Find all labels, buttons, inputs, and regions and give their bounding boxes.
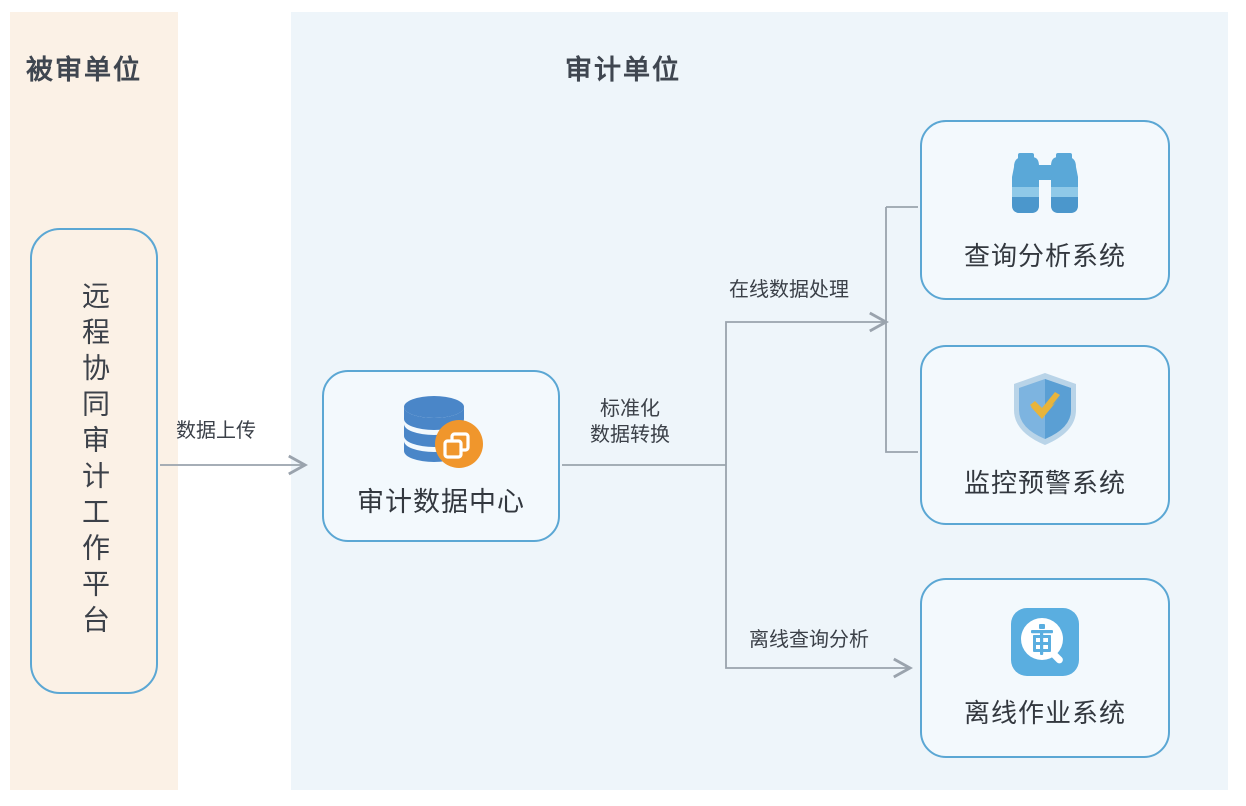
edge-label-standardize-line2: 数据转换 [590, 422, 670, 448]
database-icon [398, 393, 484, 474]
edge-label-standardize: 标准化 数据转换 [590, 396, 670, 448]
node-query-analysis-system[interactable]: 查询分析系统 [920, 120, 1170, 300]
node-audit-data-center-label: 审计数据中心 [357, 480, 525, 519]
node-monitor-warning-system-label: 监控预警系统 [964, 463, 1126, 500]
diagram-canvas: 被审单位 审计单位 数据上传 标准化 数据转换 在线数据处理 离线查询分析 远程… [0, 0, 1246, 806]
binoculars-icon [1006, 147, 1084, 226]
zone-auditor-title: 审计单位 [0, 48, 1246, 87]
edge-label-standardize-line1: 标准化 [590, 396, 670, 422]
node-remote-audit-platform[interactable]: 远程协同审计工作平台 [30, 228, 158, 694]
edge-label-online: 在线数据处理 [729, 277, 849, 303]
node-offline-operation-system-label: 离线作业系统 [964, 693, 1126, 730]
node-audit-data-center[interactable]: 审计数据中心 [322, 370, 560, 542]
node-query-analysis-system-label: 查询分析系统 [964, 236, 1126, 273]
edge-label-offline: 离线查询分析 [749, 627, 869, 653]
audit-search-icon [1009, 606, 1081, 683]
shield-check-icon [1010, 370, 1080, 453]
node-offline-operation-system[interactable]: 离线作业系统 [920, 578, 1170, 758]
node-monitor-warning-system[interactable]: 监控预警系统 [920, 345, 1170, 525]
node-remote-audit-platform-label: 远程协同审计工作平台 [80, 281, 108, 641]
edge-label-upload: 数据上传 [176, 418, 256, 444]
